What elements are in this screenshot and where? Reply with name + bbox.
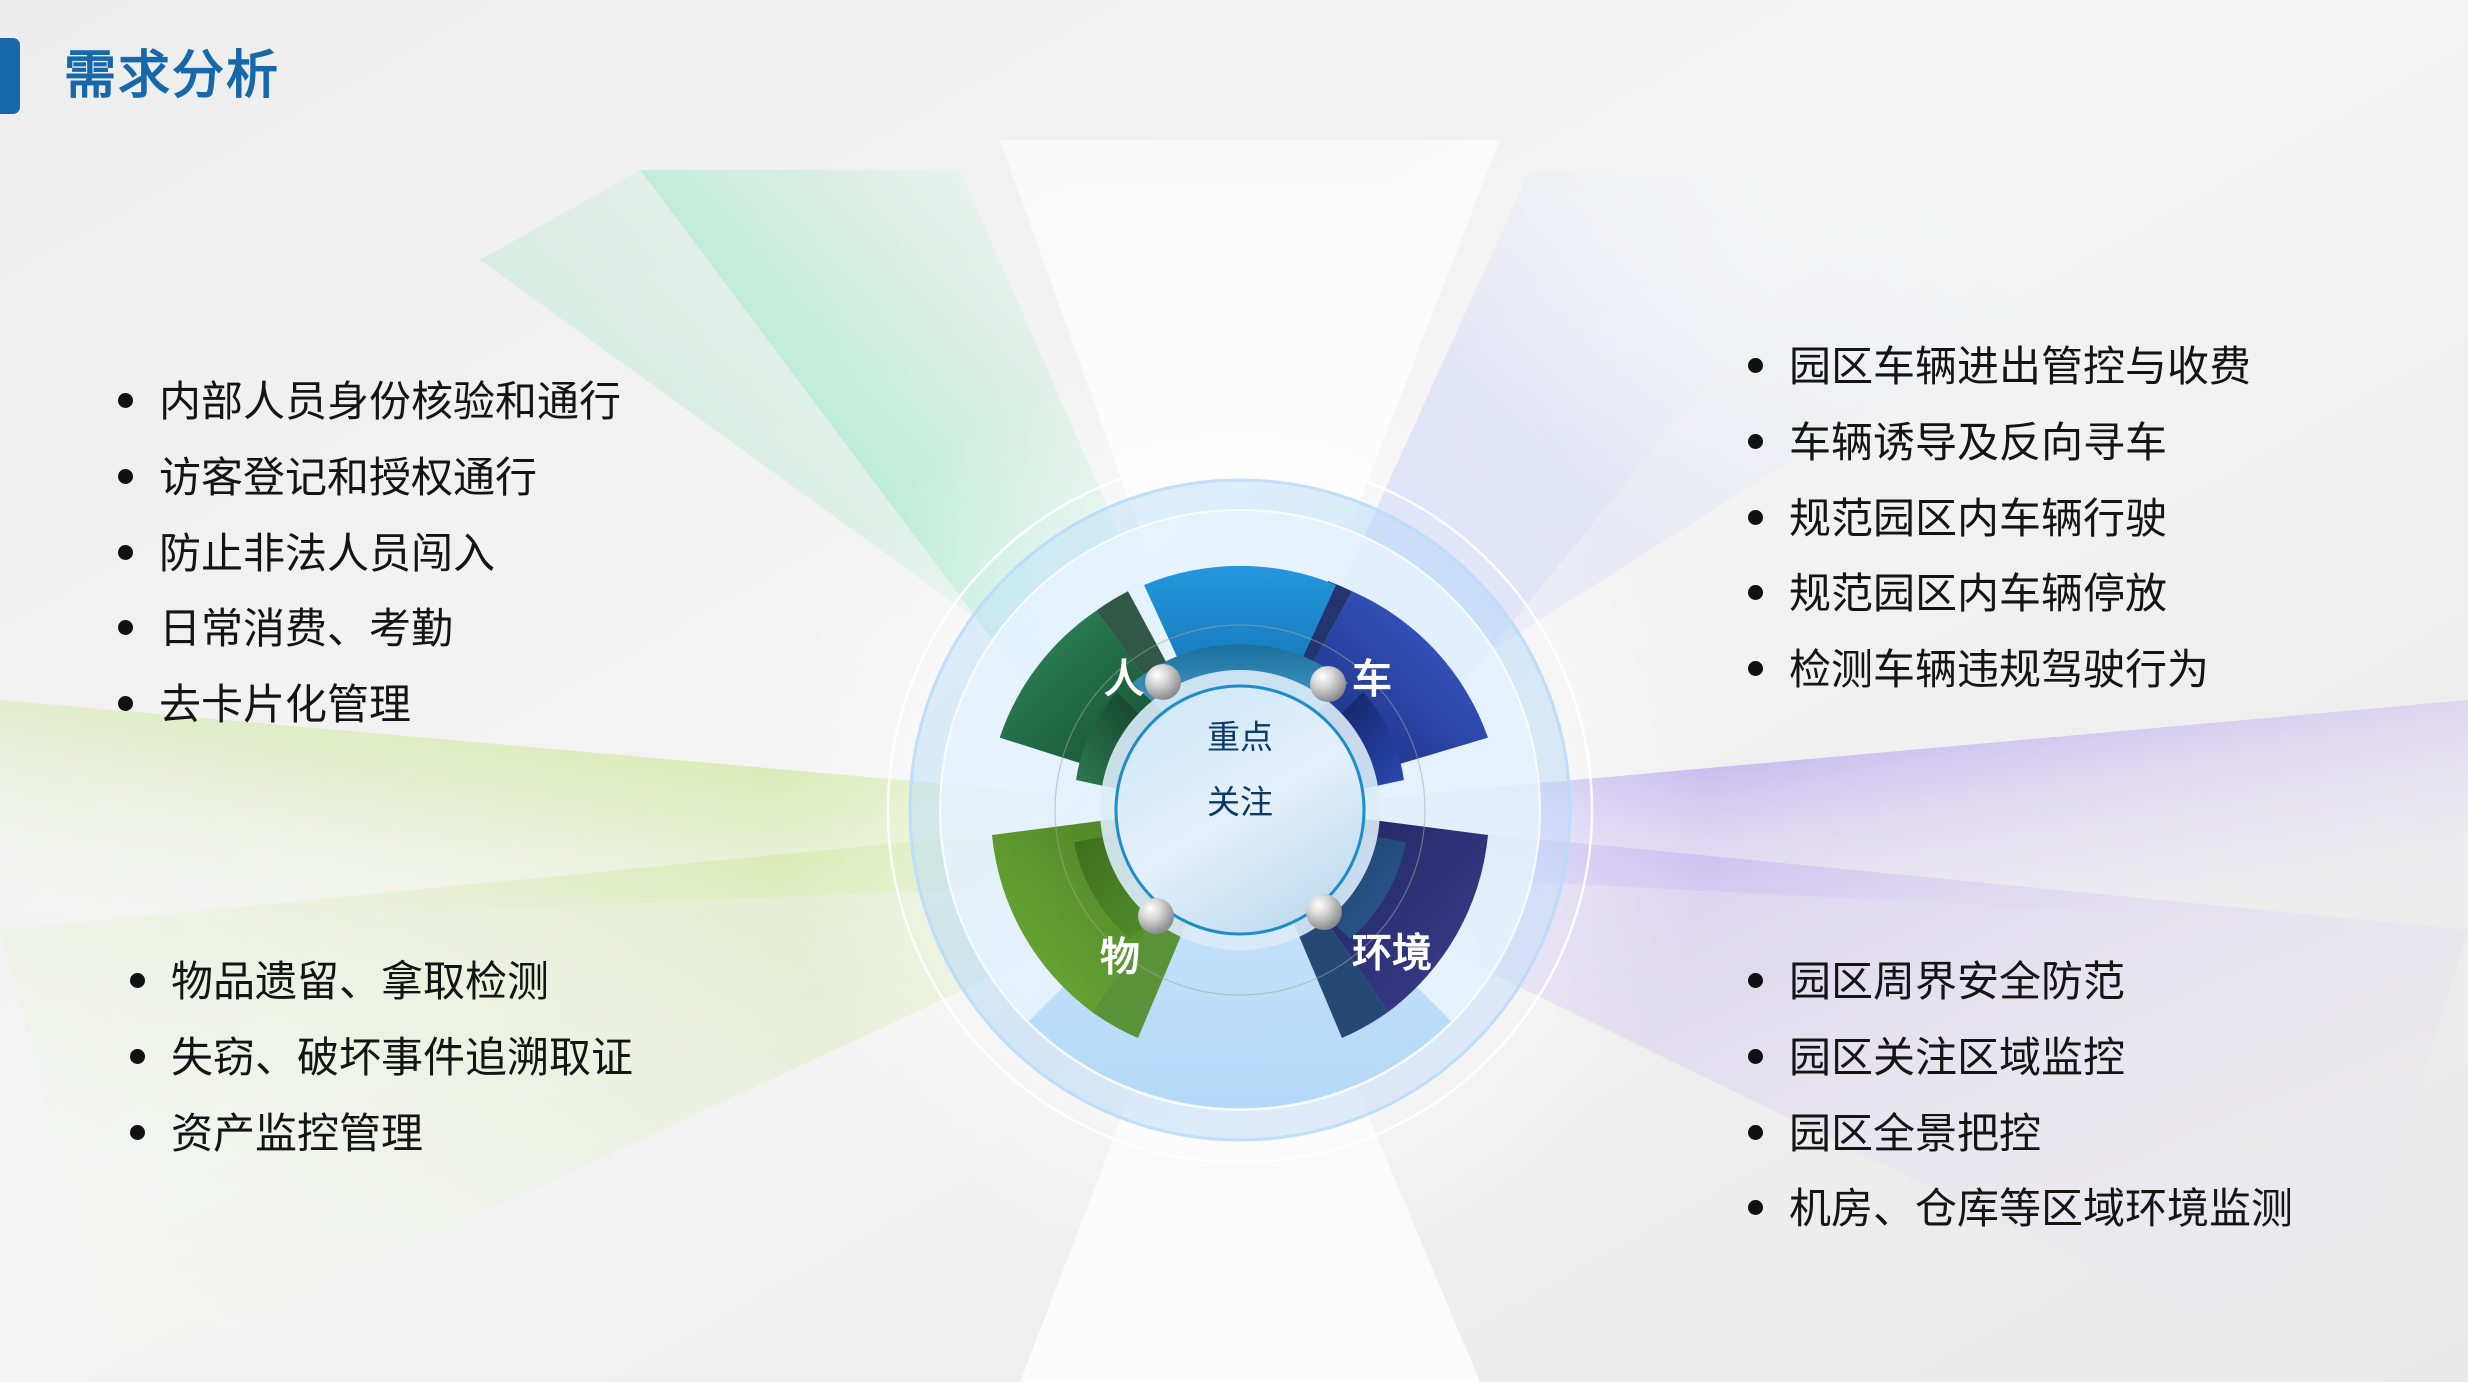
- segment-label-people: 人: [1104, 658, 1144, 702]
- bullet-dot-icon: [1748, 1049, 1763, 1064]
- bullet-text: 去卡片化管理: [159, 678, 411, 732]
- bullet-dot-icon: [118, 696, 133, 711]
- list-item: 园区全景把控: [1748, 1107, 2293, 1161]
- marker-sphere-environment: [1306, 894, 1342, 930]
- bullet-text: 机房、仓库等区域环境监测: [1789, 1182, 2293, 1236]
- bullet-dot-icon: [1748, 661, 1763, 676]
- bullet-text: 规范园区内车辆停放: [1789, 567, 2167, 621]
- focus-wheel-diagram: 重点 关注 人 车 环境 物: [880, 450, 1600, 1170]
- bullet-text: 园区关注区域监控: [1789, 1031, 2125, 1085]
- bullet-dot-icon: [1748, 434, 1763, 449]
- segment-label-vehicle: 车: [1352, 658, 1392, 702]
- marker-sphere-things: [1138, 898, 1174, 934]
- list-item: 园区关注区域监控: [1748, 1031, 2293, 1085]
- list-item: 规范园区内车辆行驶: [1748, 492, 2251, 546]
- bullet-dot-icon: [1748, 510, 1763, 525]
- bullet-group-vehicle: 园区车辆进出管控与收费 车辆诱导及反向寻车 规范园区内车辆行驶 规范园区内车辆停…: [1748, 340, 2251, 719]
- bullet-dot-icon: [1748, 358, 1763, 373]
- bullet-text: 检测车辆违规驾驶行为: [1789, 643, 2209, 697]
- list-item: 日常消费、考勤: [118, 602, 621, 656]
- bullet-text: 车辆诱导及反向寻车: [1789, 416, 2167, 470]
- list-item: 物品遗留、拿取检测: [130, 955, 633, 1009]
- bullet-group-environment: 园区周界安全防范 园区关注区域监控 园区全景把控 机房、仓库等区域环境监测: [1748, 955, 2293, 1258]
- list-item: 园区周界安全防范: [1748, 955, 2293, 1009]
- bullet-text: 访客登记和授权通行: [159, 451, 537, 505]
- list-item: 去卡片化管理: [118, 678, 621, 732]
- bullet-text: 物品遗留、拿取检测: [171, 955, 549, 1009]
- bullet-text: 园区周界安全防范: [1789, 955, 2125, 1009]
- bullet-text: 失窃、破坏事件追溯取证: [171, 1031, 633, 1085]
- list-item: 机房、仓库等区域环境监测: [1748, 1182, 2293, 1236]
- bullet-dot-icon: [1748, 1200, 1763, 1215]
- marker-sphere-vehicle: [1310, 666, 1346, 702]
- list-item: 防止非法人员闯入: [118, 527, 621, 581]
- title-accent-bar: [0, 38, 20, 114]
- bullet-text: 日常消费、考勤: [159, 602, 453, 656]
- bullet-dot-icon: [118, 393, 133, 408]
- bullet-group-things: 物品遗留、拿取检测 失窃、破坏事件追溯取证 资产监控管理: [130, 955, 633, 1182]
- bullet-dot-icon: [1748, 1125, 1763, 1140]
- bullet-dot-icon: [118, 545, 133, 560]
- bullet-dot-icon: [130, 1125, 145, 1140]
- bullet-text: 防止非法人员闯入: [159, 527, 495, 581]
- bullet-dot-icon: [118, 620, 133, 635]
- list-item: 资产监控管理: [130, 1107, 633, 1161]
- bullet-text: 园区车辆进出管控与收费: [1789, 340, 2251, 394]
- list-item: 车辆诱导及反向寻车: [1748, 416, 2251, 470]
- bullet-text: 园区全景把控: [1789, 1107, 2041, 1161]
- bullet-dot-icon: [1748, 585, 1763, 600]
- list-item: 规范园区内车辆停放: [1748, 567, 2251, 621]
- bullet-dot-icon: [1748, 973, 1763, 988]
- bullet-text: 规范园区内车辆行驶: [1789, 492, 2167, 546]
- page-title: 需求分析: [64, 50, 280, 102]
- list-item: 失窃、破坏事件追溯取证: [130, 1031, 633, 1085]
- bullet-dot-icon: [130, 1049, 145, 1064]
- segment-label-environment: 环境: [1352, 932, 1432, 976]
- center-label-line1: 重点: [1207, 719, 1273, 756]
- list-item: 检测车辆违规驾驶行为: [1748, 643, 2251, 697]
- list-item: 访客登记和授权通行: [118, 451, 621, 505]
- list-item: 园区车辆进出管控与收费: [1748, 340, 2251, 394]
- segment-label-things: 物: [1100, 936, 1140, 980]
- center-label-line2: 关注: [1207, 784, 1273, 821]
- bullet-group-people: 内部人员身份核验和通行 访客登记和授权通行 防止非法人员闯入 日常消费、考勤 去…: [118, 375, 621, 754]
- bullet-dot-icon: [118, 469, 133, 484]
- list-item: 内部人员身份核验和通行: [118, 375, 621, 429]
- page-header: 需求分析: [0, 38, 280, 114]
- bullet-dot-icon: [130, 973, 145, 988]
- marker-sphere-people: [1145, 664, 1181, 700]
- bullet-text: 资产监控管理: [171, 1107, 423, 1161]
- bullet-text: 内部人员身份核验和通行: [159, 375, 621, 429]
